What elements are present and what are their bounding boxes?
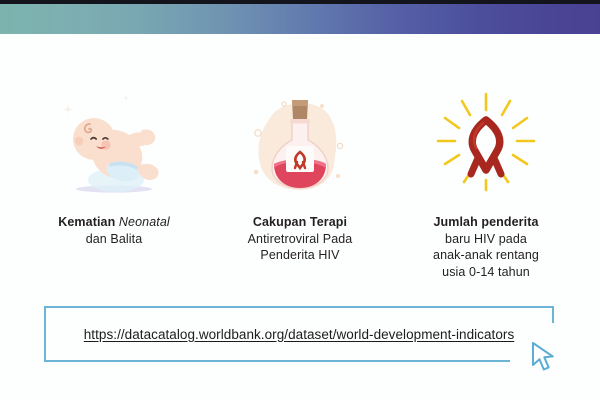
title-gradient-bar [0,4,600,34]
caption-line3: anak-anak rentang [433,247,539,264]
caption-line4: usia 0-14 tahun [433,264,539,281]
caption-line2: Antiretroviral Pada [248,231,353,248]
caption-line1-bold: Cakupan Terapi [248,214,353,231]
caption-line2: dan Balita [58,231,170,248]
mouse-pointer-icon [530,341,560,375]
caption-new-hiv-cases: Jumlah penderita baru HIV pada anak-anak… [433,214,539,280]
caption-neonatal-mortality: Kematian Neonatal dan Balita [58,214,170,247]
source-url-text-wrap: https://datacatalog.worldbank.org/datase… [44,306,554,362]
slide-canvas: Kematian Neonatal dan Balita [0,0,600,400]
column-neonatal-mortality: Kematian Neonatal dan Balita [21,88,207,247]
caption-line3: Penderita HIV [248,247,353,264]
caption-line2: baru HIV pada [433,231,539,248]
source-url-box[interactable]: https://datacatalog.worldbank.org/datase… [44,306,554,362]
baby-illustration [54,88,174,198]
column-new-hiv-cases: Jumlah penderita baru HIV pada anak-anak… [393,88,579,280]
source-url-link[interactable]: https://datacatalog.worldbank.org/datase… [84,327,515,342]
caption-line1-bold: Jumlah penderita [433,214,539,231]
icon-columns: Kematian Neonatal dan Balita [0,88,600,280]
caption-line1-italic: Neonatal [119,215,170,229]
column-arv-coverage: Cakupan Terapi Antiretroviral Pada Pende… [207,88,393,264]
caption-arv-coverage: Cakupan Terapi Antiretroviral Pada Pende… [248,214,353,264]
medicine-flask-hiv-ribbon-illustration [240,88,360,198]
hiv-awareness-ribbon-illustration [426,88,546,198]
caption-line1-bold: Kematian [58,215,119,229]
